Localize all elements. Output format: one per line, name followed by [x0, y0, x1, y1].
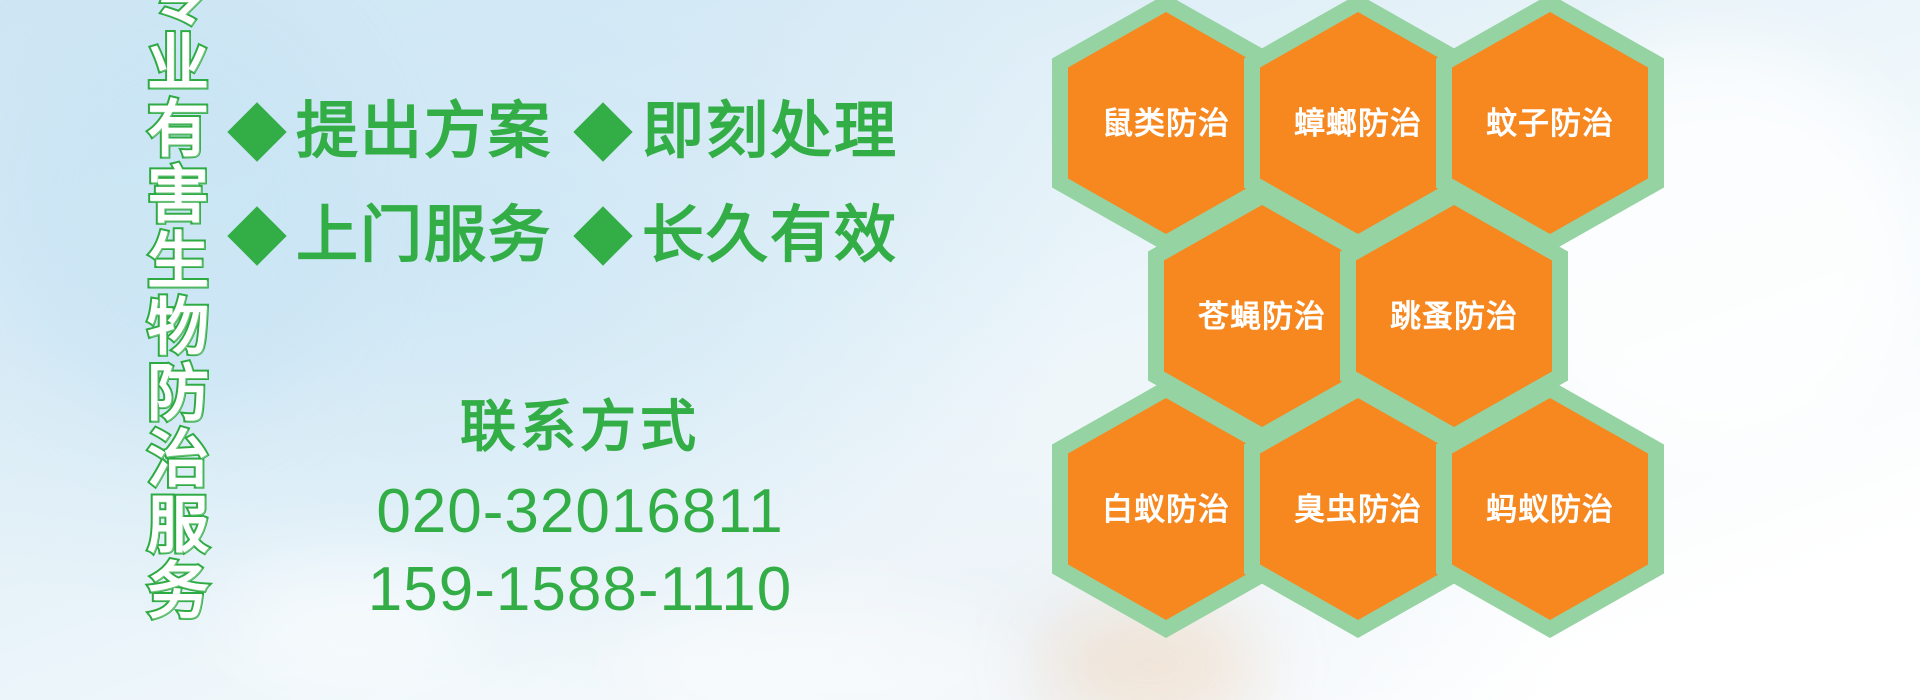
feature-item-immediate-treatment: 即刻处理 — [582, 101, 898, 163]
hex-inner: 蚊子防治 — [1452, 12, 1648, 234]
diamond-bullet-icon — [573, 206, 632, 265]
service-label: 蚂蚁防治 — [1486, 494, 1614, 525]
hex-inner: 蟑螂防治 — [1260, 12, 1456, 234]
service-label: 蚊子防治 — [1486, 108, 1614, 139]
hex-inner: 白蚁防治 — [1068, 398, 1264, 620]
service-label: 臭虫防治 — [1294, 494, 1422, 525]
vertical-headline: 专业有害生物防治服务 — [108, 14, 204, 574]
service-honeycomb: 鼠类防治 蟑螂防治 蚊子防治 苍蝇防治 跳蚤防治 白蚁防治 — [1052, 0, 1692, 700]
hex-inner: 鼠类防治 — [1068, 12, 1264, 234]
diamond-bullet-icon — [227, 206, 286, 265]
hex-inner: 蚂蚁防治 — [1452, 398, 1648, 620]
feature-item-propose-plan: 提出方案 — [236, 101, 552, 163]
feature-label: 即刻处理 — [642, 101, 898, 163]
hex-inner: 苍蝇防治 — [1164, 205, 1360, 427]
phone-mobile[interactable]: 159-1588-1110 — [300, 551, 860, 629]
feature-label: 上门服务 — [296, 205, 552, 267]
feature-row: 上门服务 长久有效 — [236, 184, 876, 288]
feature-item-long-lasting: 长久有效 — [582, 205, 898, 267]
feature-label: 长久有效 — [642, 205, 898, 267]
contact-heading: 联系方式 — [300, 398, 860, 457]
service-label: 跳蚤防治 — [1390, 301, 1518, 332]
service-label: 蟑螂防治 — [1294, 108, 1422, 139]
pest-control-banner: 专业有害生物防治服务 提出方案 即刻处理 上门服务 长久有效 联系方式 — [0, 0, 1920, 700]
service-label: 鼠类防治 — [1102, 108, 1230, 139]
feature-row: 提出方案 即刻处理 — [236, 80, 876, 184]
diamond-bullet-icon — [227, 102, 286, 161]
diamond-bullet-icon — [573, 102, 632, 161]
service-label: 白蚁防治 — [1102, 494, 1230, 525]
hex-inner: 臭虫防治 — [1260, 398, 1456, 620]
service-label: 苍蝇防治 — [1198, 301, 1326, 332]
feature-item-onsite-service: 上门服务 — [236, 205, 552, 267]
contact-block: 联系方式 020-32016811 159-1588-1110 — [300, 398, 860, 629]
feature-list: 提出方案 即刻处理 上门服务 长久有效 — [236, 80, 876, 288]
hex-inner: 跳蚤防治 — [1356, 205, 1552, 427]
phone-landline[interactable]: 020-32016811 — [300, 473, 860, 551]
feature-label: 提出方案 — [296, 101, 552, 163]
